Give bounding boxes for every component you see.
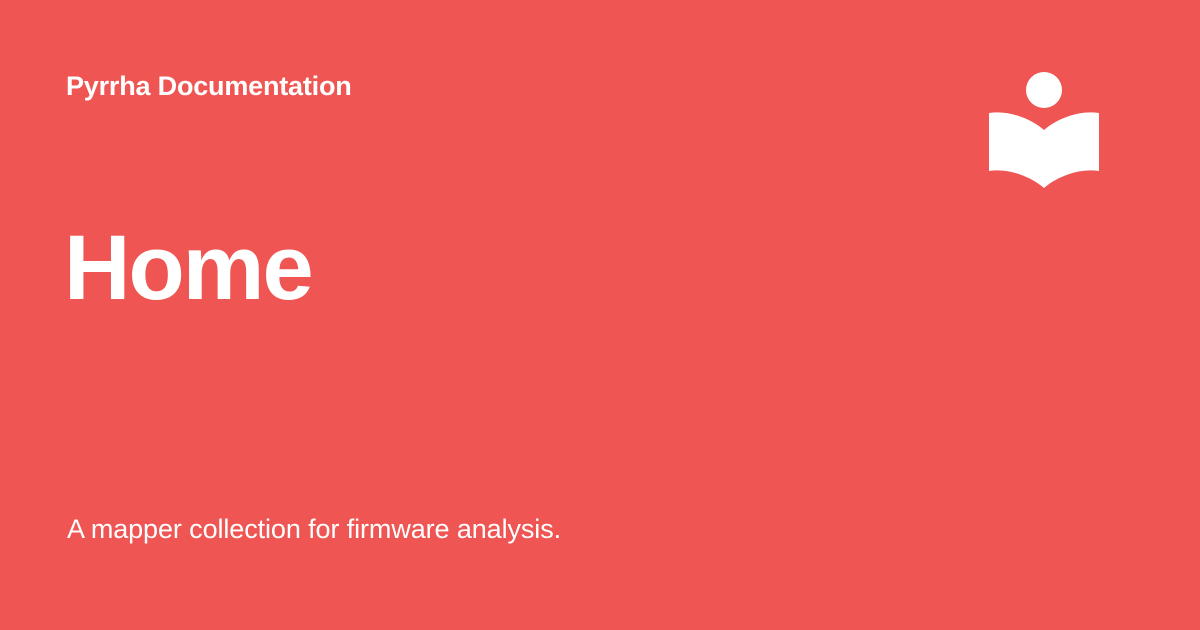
- book-reader-logo-icon: [986, 66, 1102, 196]
- site-name: Pyrrha Documentation: [66, 70, 352, 102]
- logo-head-circle: [1026, 72, 1062, 108]
- social-preview-card: Pyrrha Documentation Home A mapper colle…: [0, 0, 1200, 630]
- page-title: Home: [64, 220, 312, 317]
- site-tagline: A mapper collection for firmware analysi…: [67, 512, 561, 547]
- logo-book-right-page: [1044, 112, 1099, 188]
- logo-book-left-page: [989, 112, 1044, 188]
